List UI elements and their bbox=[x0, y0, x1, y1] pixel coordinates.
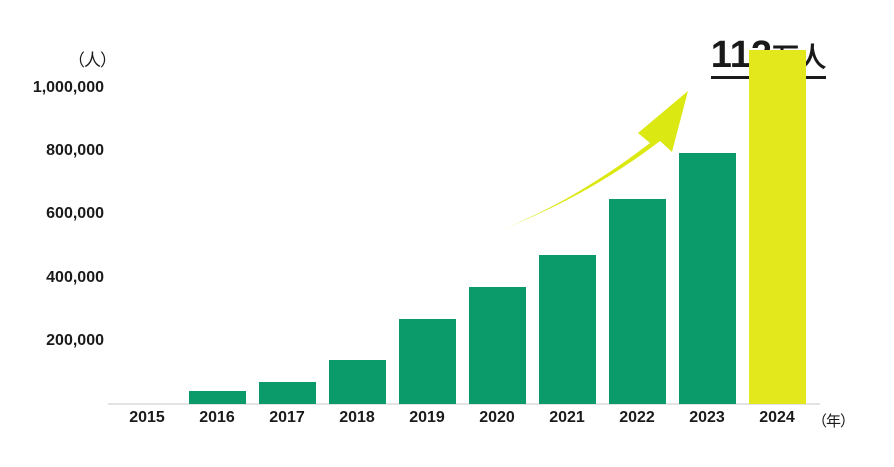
bar-2022[interactable] bbox=[609, 199, 666, 404]
x-axis-tick-label-2015: 2015 bbox=[112, 409, 182, 427]
x-axis-unit-label: （年） bbox=[812, 410, 854, 431]
y-axis-tick-label: 200,000 bbox=[46, 332, 104, 350]
y-axis-tick-label: 800,000 bbox=[46, 142, 104, 160]
y-axis-tick-label: 600,000 bbox=[46, 205, 104, 223]
bar-slot bbox=[392, 0, 462, 404]
bar-chart-figure: 112万人 （人） 200,000400,000600,000800,0001,… bbox=[0, 0, 894, 467]
bar-2020[interactable] bbox=[469, 287, 526, 404]
bar-slot bbox=[602, 0, 672, 404]
bar-slot bbox=[672, 0, 742, 404]
bar-slot bbox=[182, 0, 252, 404]
bar-2024[interactable] bbox=[749, 50, 806, 404]
bar-2017[interactable] bbox=[259, 382, 316, 404]
bar-2016[interactable] bbox=[189, 391, 246, 404]
x-axis-tick-label-2022: 2022 bbox=[602, 409, 672, 427]
bar-2021[interactable] bbox=[539, 255, 596, 404]
x-axis-tick-label-2020: 2020 bbox=[462, 409, 532, 427]
bar-slot bbox=[112, 0, 182, 404]
x-axis-tick-label-2017: 2017 bbox=[252, 409, 322, 427]
bar-slot bbox=[532, 0, 602, 404]
bar-2019[interactable] bbox=[399, 319, 456, 404]
x-axis-tick-label-2021: 2021 bbox=[532, 409, 602, 427]
bar-slot bbox=[742, 0, 812, 404]
x-axis-tick-label-2016: 2016 bbox=[182, 409, 252, 427]
x-axis-tick-label-2018: 2018 bbox=[322, 409, 392, 427]
y-axis-tick-label: 400,000 bbox=[46, 269, 104, 287]
bar-slot bbox=[462, 0, 532, 404]
y-axis-tick-label: 1,000,000 bbox=[33, 79, 104, 97]
bar-2023[interactable] bbox=[679, 153, 736, 404]
x-axis-tick-labels: 2015201620172018201920202021202220232024 bbox=[112, 409, 812, 437]
x-axis-tick-label-2019: 2019 bbox=[392, 409, 462, 427]
bar-series bbox=[112, 0, 812, 404]
bar-2018[interactable] bbox=[329, 360, 386, 404]
bar-slot bbox=[322, 0, 392, 404]
bar-slot bbox=[252, 0, 322, 404]
x-axis-tick-label-2024: 2024 bbox=[742, 409, 812, 427]
y-axis-tick-labels: 200,000400,000600,000800,0001,000,000 bbox=[0, 0, 104, 467]
x-axis-tick-label-2023: 2023 bbox=[672, 409, 742, 427]
